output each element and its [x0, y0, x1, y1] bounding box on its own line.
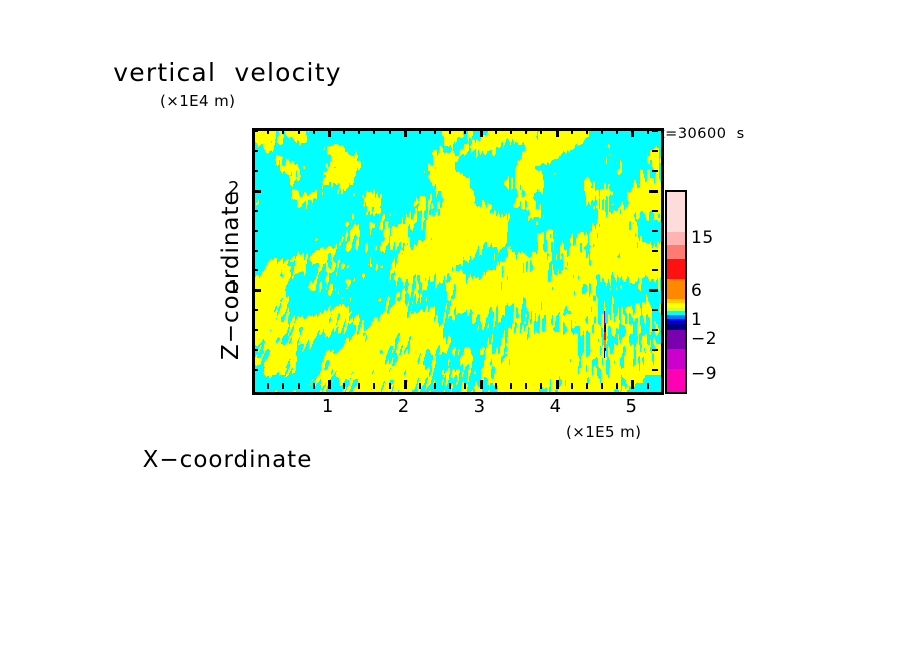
tick-mark	[252, 150, 258, 152]
y-tick-label: 1	[200, 277, 240, 298]
colorbar-tick-label: 6	[691, 281, 702, 301]
x-axis-unit-label: (×1E5 m)	[566, 423, 641, 441]
tick-mark	[464, 383, 466, 389]
x-tick-label: 3	[460, 396, 500, 417]
tick-mark	[652, 210, 658, 212]
tick-mark	[252, 230, 258, 232]
tick-mark	[373, 383, 375, 389]
tick-mark	[480, 128, 483, 137]
tick-mark	[495, 128, 497, 134]
tick-mark	[282, 128, 284, 134]
tick-mark	[631, 128, 634, 137]
tick-mark	[652, 329, 658, 331]
tick-mark	[652, 150, 658, 152]
tick-mark	[267, 383, 269, 389]
colorbar-band	[667, 245, 685, 259]
tick-mark	[252, 349, 258, 351]
tick-mark	[298, 128, 300, 134]
tick-mark	[419, 383, 421, 389]
tick-mark	[540, 128, 542, 134]
tick-mark	[252, 289, 261, 292]
tick-mark	[556, 128, 559, 137]
tick-mark	[556, 380, 559, 389]
tick-mark	[540, 383, 542, 389]
x-tick-label: 2	[384, 396, 424, 417]
y-tick-label: 2	[200, 178, 240, 199]
figure-canvas: vertical velocity (×1E4 m) (×1E5 m) t=30…	[0, 0, 904, 654]
page-title-text: vertical velocity	[113, 58, 341, 87]
tick-mark	[649, 190, 658, 193]
tick-mark	[601, 128, 603, 134]
tick-mark	[652, 269, 658, 271]
colorbar-tick-label: 1	[691, 310, 702, 330]
colorbar-band	[667, 349, 685, 369]
tick-mark	[252, 309, 258, 311]
tick-mark	[652, 309, 658, 311]
tick-mark	[586, 128, 588, 134]
tick-mark	[373, 128, 375, 134]
tick-mark	[647, 383, 649, 389]
tick-mark	[616, 383, 618, 389]
y-axis-title-text: Z−coordinate	[218, 100, 244, 360]
plot-area	[252, 128, 664, 395]
x-tick-label: 5	[611, 396, 651, 417]
colorbar	[665, 190, 687, 394]
x-axis-title: X−coordinate	[0, 447, 904, 473]
tick-mark	[252, 210, 258, 212]
tick-mark	[434, 383, 436, 389]
tick-mark	[282, 383, 284, 389]
x-axis-title-text: X−coordinate	[143, 447, 313, 473]
tick-mark	[358, 383, 360, 389]
tick-mark	[404, 128, 407, 137]
colorbar-band	[667, 330, 685, 350]
tick-mark	[252, 130, 258, 132]
tick-mark	[510, 383, 512, 389]
tick-mark	[404, 380, 407, 389]
tick-mark	[652, 230, 658, 232]
tick-mark	[495, 383, 497, 389]
colorbar-tick-label: 15	[691, 228, 714, 248]
tick-mark	[267, 128, 269, 134]
tick-mark	[510, 128, 512, 134]
x-tick-label: 4	[536, 396, 576, 417]
heatmap-field	[255, 131, 661, 392]
tick-mark	[649, 289, 658, 292]
tick-mark	[252, 269, 258, 271]
tick-mark	[647, 128, 649, 134]
colorbar-tick-label: −9	[691, 364, 717, 384]
tick-mark	[449, 383, 451, 389]
page-title: vertical velocity	[0, 58, 904, 87]
tick-mark	[480, 380, 483, 389]
colorbar-band	[667, 259, 685, 279]
tick-mark	[298, 383, 300, 389]
tick-mark	[313, 383, 315, 389]
tick-mark	[252, 329, 258, 331]
time-annotation: t=30600 s	[659, 126, 745, 142]
tick-mark	[252, 170, 258, 172]
tick-mark	[525, 383, 527, 389]
tick-mark	[313, 128, 315, 134]
x-tick-label: 1	[308, 396, 348, 417]
tick-mark	[631, 380, 634, 389]
tick-mark	[616, 128, 618, 134]
tick-mark	[389, 383, 391, 389]
colorbar-tick-label: −2	[691, 329, 717, 349]
tick-mark	[652, 170, 658, 172]
tick-mark	[571, 128, 573, 134]
tick-mark	[328, 380, 331, 389]
tick-mark	[652, 250, 658, 252]
tick-mark	[652, 349, 658, 351]
tick-mark	[525, 128, 527, 134]
tick-mark	[252, 369, 258, 371]
colorbar-band	[667, 232, 685, 246]
tick-mark	[252, 250, 258, 252]
tick-mark	[586, 383, 588, 389]
tick-mark	[343, 383, 345, 389]
tick-mark	[601, 383, 603, 389]
tick-mark	[389, 128, 391, 134]
y-axis-title: Z−coordinate	[218, 100, 248, 360]
tick-mark	[449, 128, 451, 134]
colorbar-band	[667, 369, 685, 392]
tick-mark	[571, 383, 573, 389]
colorbar-band	[667, 279, 685, 299]
tick-mark	[328, 128, 331, 137]
tick-mark	[419, 128, 421, 134]
tick-mark	[358, 128, 360, 134]
tick-mark	[652, 369, 658, 371]
tick-mark	[652, 130, 658, 132]
tick-mark	[343, 128, 345, 134]
tick-mark	[434, 128, 436, 134]
tick-mark	[464, 128, 466, 134]
colorbar-band	[667, 192, 685, 232]
tick-mark	[252, 190, 261, 193]
